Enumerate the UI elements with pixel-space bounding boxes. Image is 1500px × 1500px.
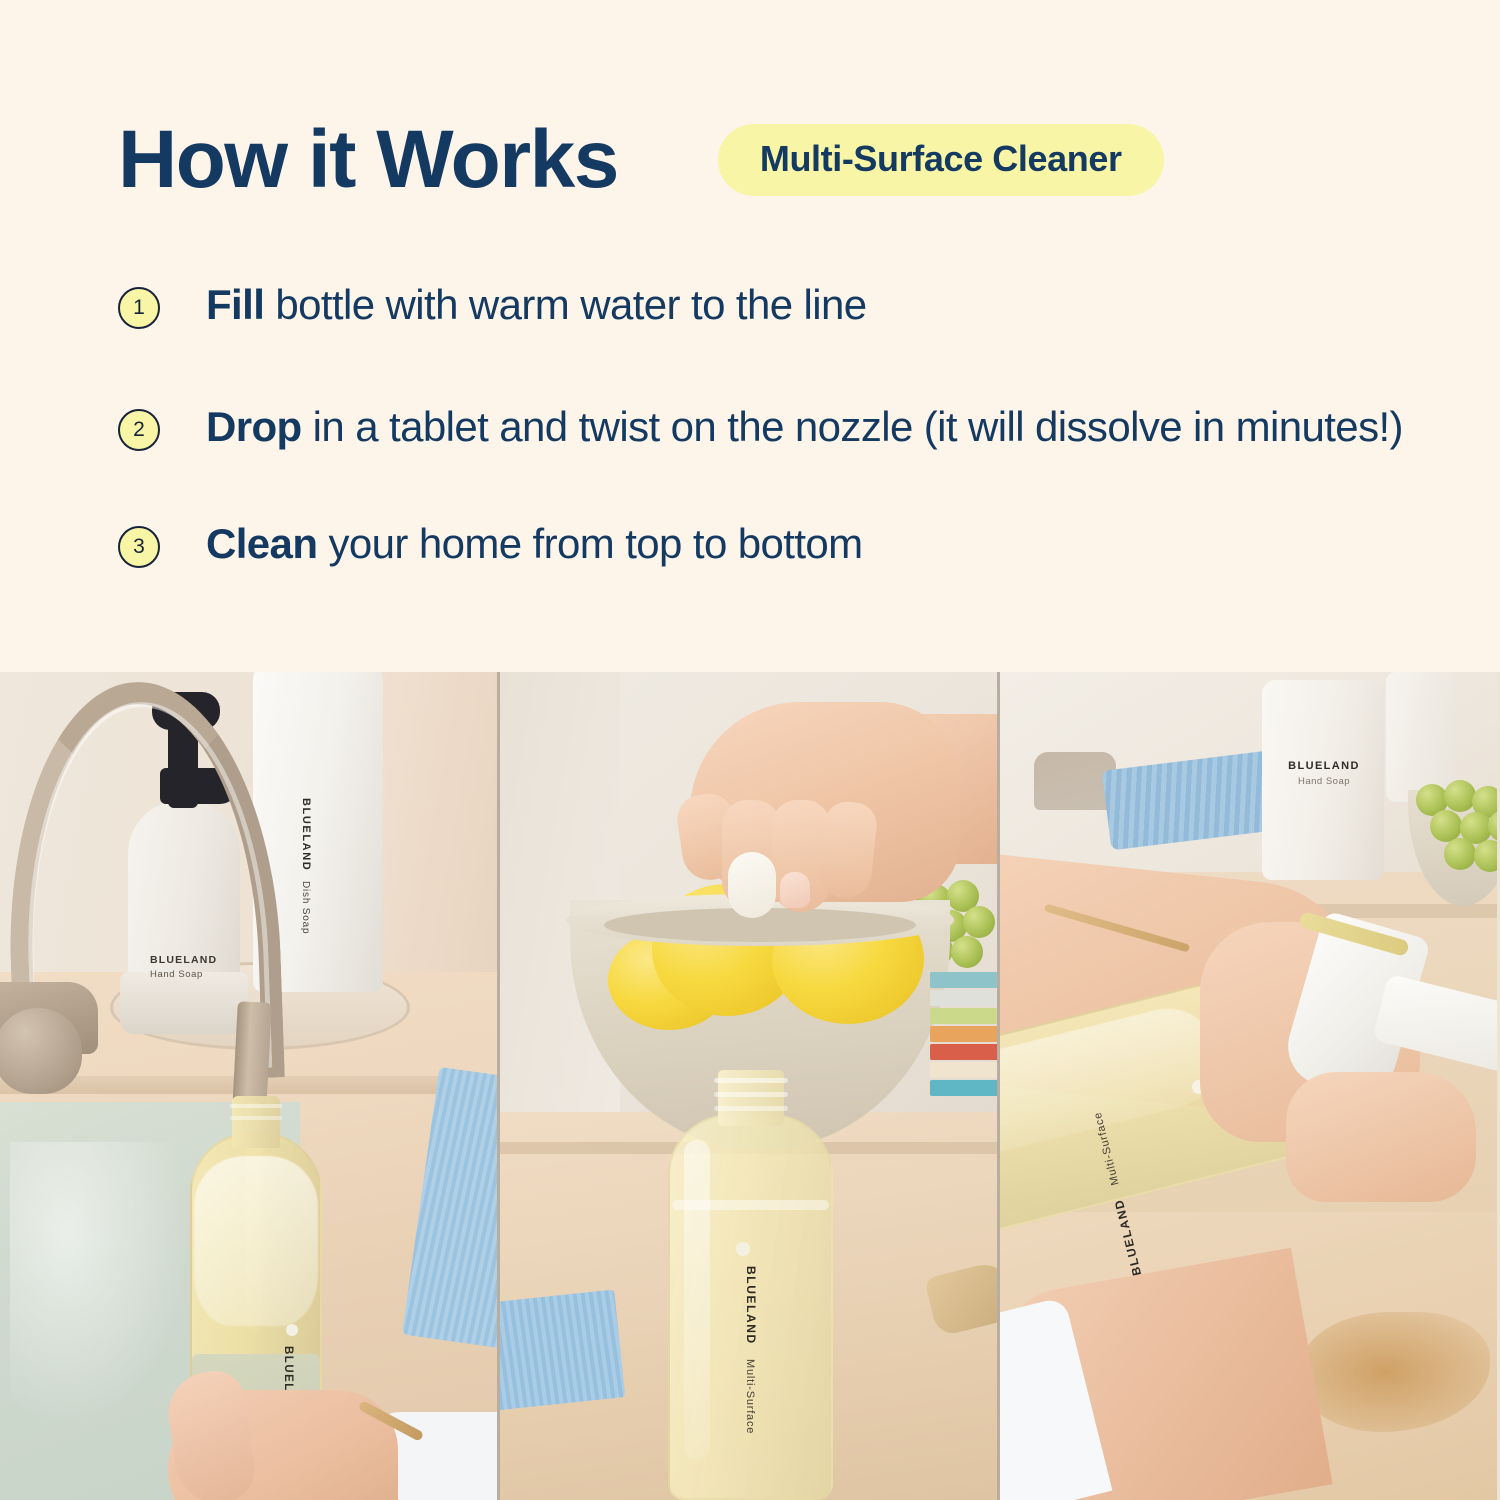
grape xyxy=(963,906,995,938)
dish-soap-kind-text: Dish Soap xyxy=(300,881,311,934)
step-text-1: Fill bottle with warm water to the line xyxy=(206,278,867,333)
photo-panel-fill: BLUELAND Hand Soap BLUELAND Dish Soap xyxy=(0,672,497,1500)
book-spine xyxy=(930,1080,1000,1096)
book-stack xyxy=(930,972,1000,1122)
book-spine xyxy=(930,1008,1000,1024)
how-it-works-page: How it Works Multi-Surface Cleaner 1 Fil… xyxy=(0,0,1500,1500)
grape xyxy=(1444,838,1476,870)
bottle-thread xyxy=(714,1078,788,1083)
step-rest-1: bottle with warm water to the line xyxy=(264,281,866,328)
step-number-badge-2: 2 xyxy=(118,409,160,451)
bottle-thread xyxy=(714,1106,788,1111)
blue-cloth xyxy=(497,1290,625,1411)
grape-cluster xyxy=(1412,780,1497,870)
dish-soap-brand-text: BLUELAND xyxy=(300,798,312,871)
step-number-badge-1: 1 xyxy=(118,287,160,329)
bottle-highlight xyxy=(684,1140,710,1460)
header-section: How it Works Multi-Surface Cleaner 1 Fil… xyxy=(0,0,1500,672)
bottle-brand-text: BLUELAND xyxy=(744,1266,758,1345)
grape xyxy=(1444,780,1476,812)
step-bold-1: Fill xyxy=(206,281,264,328)
hand-soap-kind-text: Hand Soap xyxy=(1274,776,1374,787)
photo-panel-clean: BLUELAND Hand Soap BLUELAND xyxy=(1000,672,1497,1500)
step-text-3: Clean your home from top to bottom xyxy=(206,517,863,572)
step-item-1: 1 Fill bottle with warm water to the lin… xyxy=(118,278,1418,333)
product-badge: Multi-Surface Cleaner xyxy=(718,124,1164,196)
bottle-thread xyxy=(714,1092,788,1097)
step-rest-3: your home from top to bottom xyxy=(317,520,862,567)
book-spine xyxy=(930,990,1000,1006)
step-item-2: 2 Drop in a tablet and twist on the nozz… xyxy=(118,400,1418,455)
book-spine xyxy=(930,1044,1000,1060)
step-rest-2: in a tablet and twist on the nozzle (it … xyxy=(302,403,1403,450)
cleaning-tablet xyxy=(728,852,776,918)
photo-strip: BLUELAND Hand Soap BLUELAND Dish Soap xyxy=(0,672,1500,1500)
multi-surface-label: BLUELAND Multi-Surface xyxy=(744,1266,758,1434)
fingers xyxy=(1286,1072,1476,1202)
dish-soap-label: BLUELAND Dish Soap xyxy=(300,798,322,948)
steps-list: 1 Fill bottle with warm water to the lin… xyxy=(118,278,1418,572)
fill-line-marker xyxy=(286,1324,298,1336)
grape xyxy=(1474,840,1497,872)
page-title: How it Works xyxy=(118,119,618,201)
bottle-thread-lower xyxy=(230,1116,282,1120)
grape xyxy=(951,936,983,968)
thumb-nail xyxy=(780,872,810,908)
step-bold-2: Drop xyxy=(206,403,302,450)
book-spine xyxy=(930,972,1000,988)
faucet-knob-icon xyxy=(0,1008,82,1094)
bottle-foam xyxy=(194,1156,318,1326)
hand-soap-label: BLUELAND Hand Soap xyxy=(1274,760,1374,787)
step-text-2: Drop in a tablet and twist on the nozzle… xyxy=(206,400,1403,455)
multi-surface-bottle: BLUELAND Multi-Surface xyxy=(668,1070,833,1500)
photo-panel-drop: BLUELAND Multi-Surface xyxy=(497,672,1000,1500)
bottle-thread-upper xyxy=(230,1104,282,1108)
title-row: How it Works Multi-Surface Cleaner xyxy=(118,110,1408,210)
bottle-kind-text: Multi-Surface xyxy=(744,1359,756,1434)
step-item-3: 3 Clean your home from top to bottom xyxy=(118,517,1418,572)
book-spine xyxy=(930,1062,1000,1078)
fill-line-marker xyxy=(736,1242,750,1256)
step-bold-3: Clean xyxy=(206,520,317,567)
book-spine xyxy=(930,1026,1000,1042)
hand-soap-brand-text: BLUELAND xyxy=(1274,760,1374,772)
step-number-badge-3: 3 xyxy=(118,526,160,568)
